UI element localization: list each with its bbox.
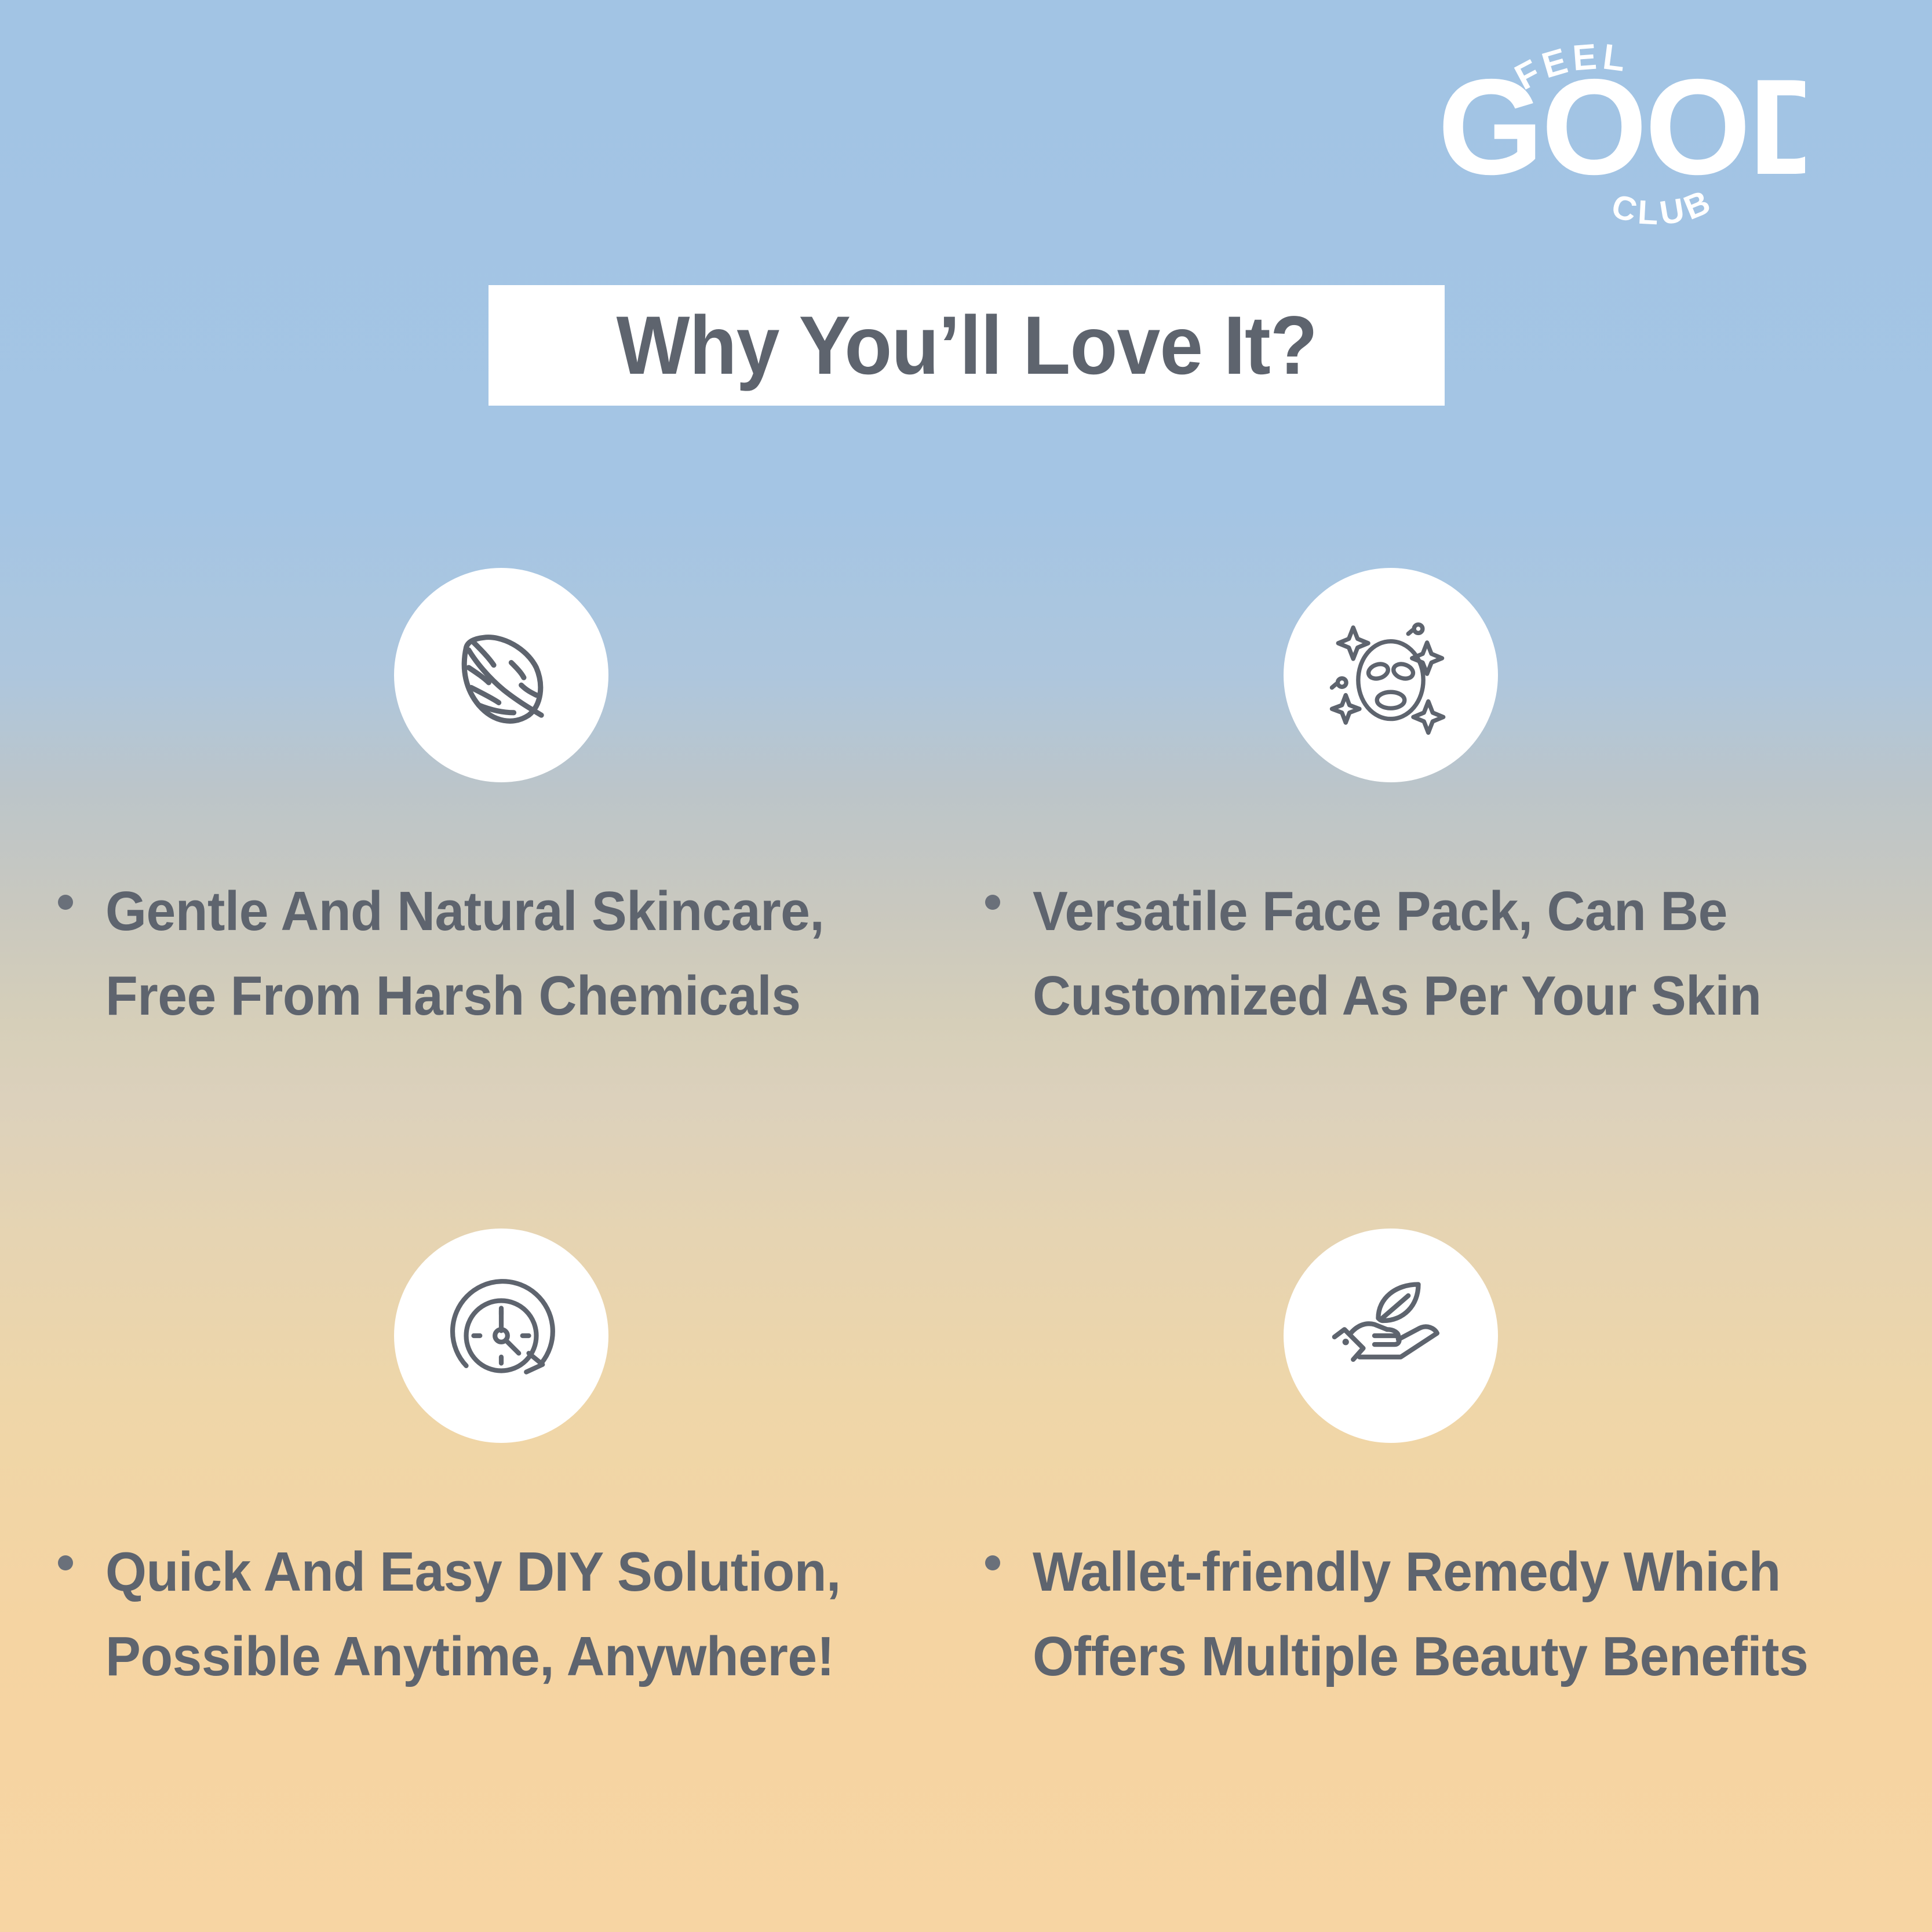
icon-badge-2 <box>1284 568 1498 782</box>
bullet-icon <box>985 895 1000 910</box>
bullet-icon <box>58 895 73 910</box>
benefit-line-1a: Gentle And Natural Skincare, <box>105 880 824 942</box>
benefit-text-block-2: Versatile Face Pack, Can Be Customized A… <box>985 869 1800 1038</box>
benefit-label-1: Gentle And Natural Skincare, Free From H… <box>105 869 824 1038</box>
benefit-line-3a: Quick And Easy DIY Solution, <box>105 1541 841 1603</box>
benefit-line-2a: Versatile Face Pack, Can Be <box>1033 880 1727 942</box>
bullet-icon <box>58 1555 73 1570</box>
benefit-label-4: Wallet-friendly Remedy Which Offers Mult… <box>1033 1530 1808 1699</box>
benefit-label-3: Quick And Easy DIY Solution, Possible An… <box>105 1530 841 1699</box>
benefit-line-3b: Possible Anytime, Anywhere! <box>105 1614 841 1699</box>
benefit-line-2b: Customized As Per Your Skin <box>1033 954 1762 1038</box>
face-mask-sparkle-icon <box>1328 613 1453 738</box>
feather-icon <box>439 613 564 738</box>
clock-refresh-icon <box>439 1273 564 1398</box>
benefit-card-3: Quick And Easy DIY Solution, Possible An… <box>58 1229 880 1699</box>
benefit-card-4: Wallet-friendly Remedy Which Offers Mult… <box>985 1229 1849 1699</box>
logo-good-text: GOOD <box>1438 50 1805 203</box>
benefit-text-block-4: Wallet-friendly Remedy Which Offers Mult… <box>985 1530 1849 1699</box>
benefit-line-4b: Offers Multiple Beauty Benefits <box>1033 1614 1808 1699</box>
icon-badge-4 <box>1284 1229 1498 1443</box>
icon-badge-3 <box>394 1229 608 1443</box>
benefit-card-1: Gentle And Natural Skincare, Free From H… <box>58 568 862 1038</box>
icon-badge-1 <box>394 568 608 782</box>
title-banner: Why You’ll Love It? <box>489 285 1445 406</box>
promo-poster: FEEL GOOD CLUB Why You’ll Love It? <box>0 0 1932 1932</box>
benefit-card-2: Versatile Face Pack, Can Be Customized A… <box>985 568 1800 1038</box>
brand-logo: FEEL GOOD CLUB <box>1434 26 1805 240</box>
benefit-line-1b: Free From Harsh Chemicals <box>105 954 824 1038</box>
benefit-label-2: Versatile Face Pack, Can Be Customized A… <box>1033 869 1762 1038</box>
benefit-text-block-1: Gentle And Natural Skincare, Free From H… <box>58 869 862 1038</box>
page-title: Why You’ll Love It? <box>616 304 1317 387</box>
hand-leaf-icon <box>1328 1273 1453 1398</box>
bullet-icon <box>985 1555 1000 1570</box>
benefit-line-4a: Wallet-friendly Remedy Which <box>1033 1541 1781 1603</box>
benefit-text-block-3: Quick And Easy DIY Solution, Possible An… <box>58 1530 880 1699</box>
